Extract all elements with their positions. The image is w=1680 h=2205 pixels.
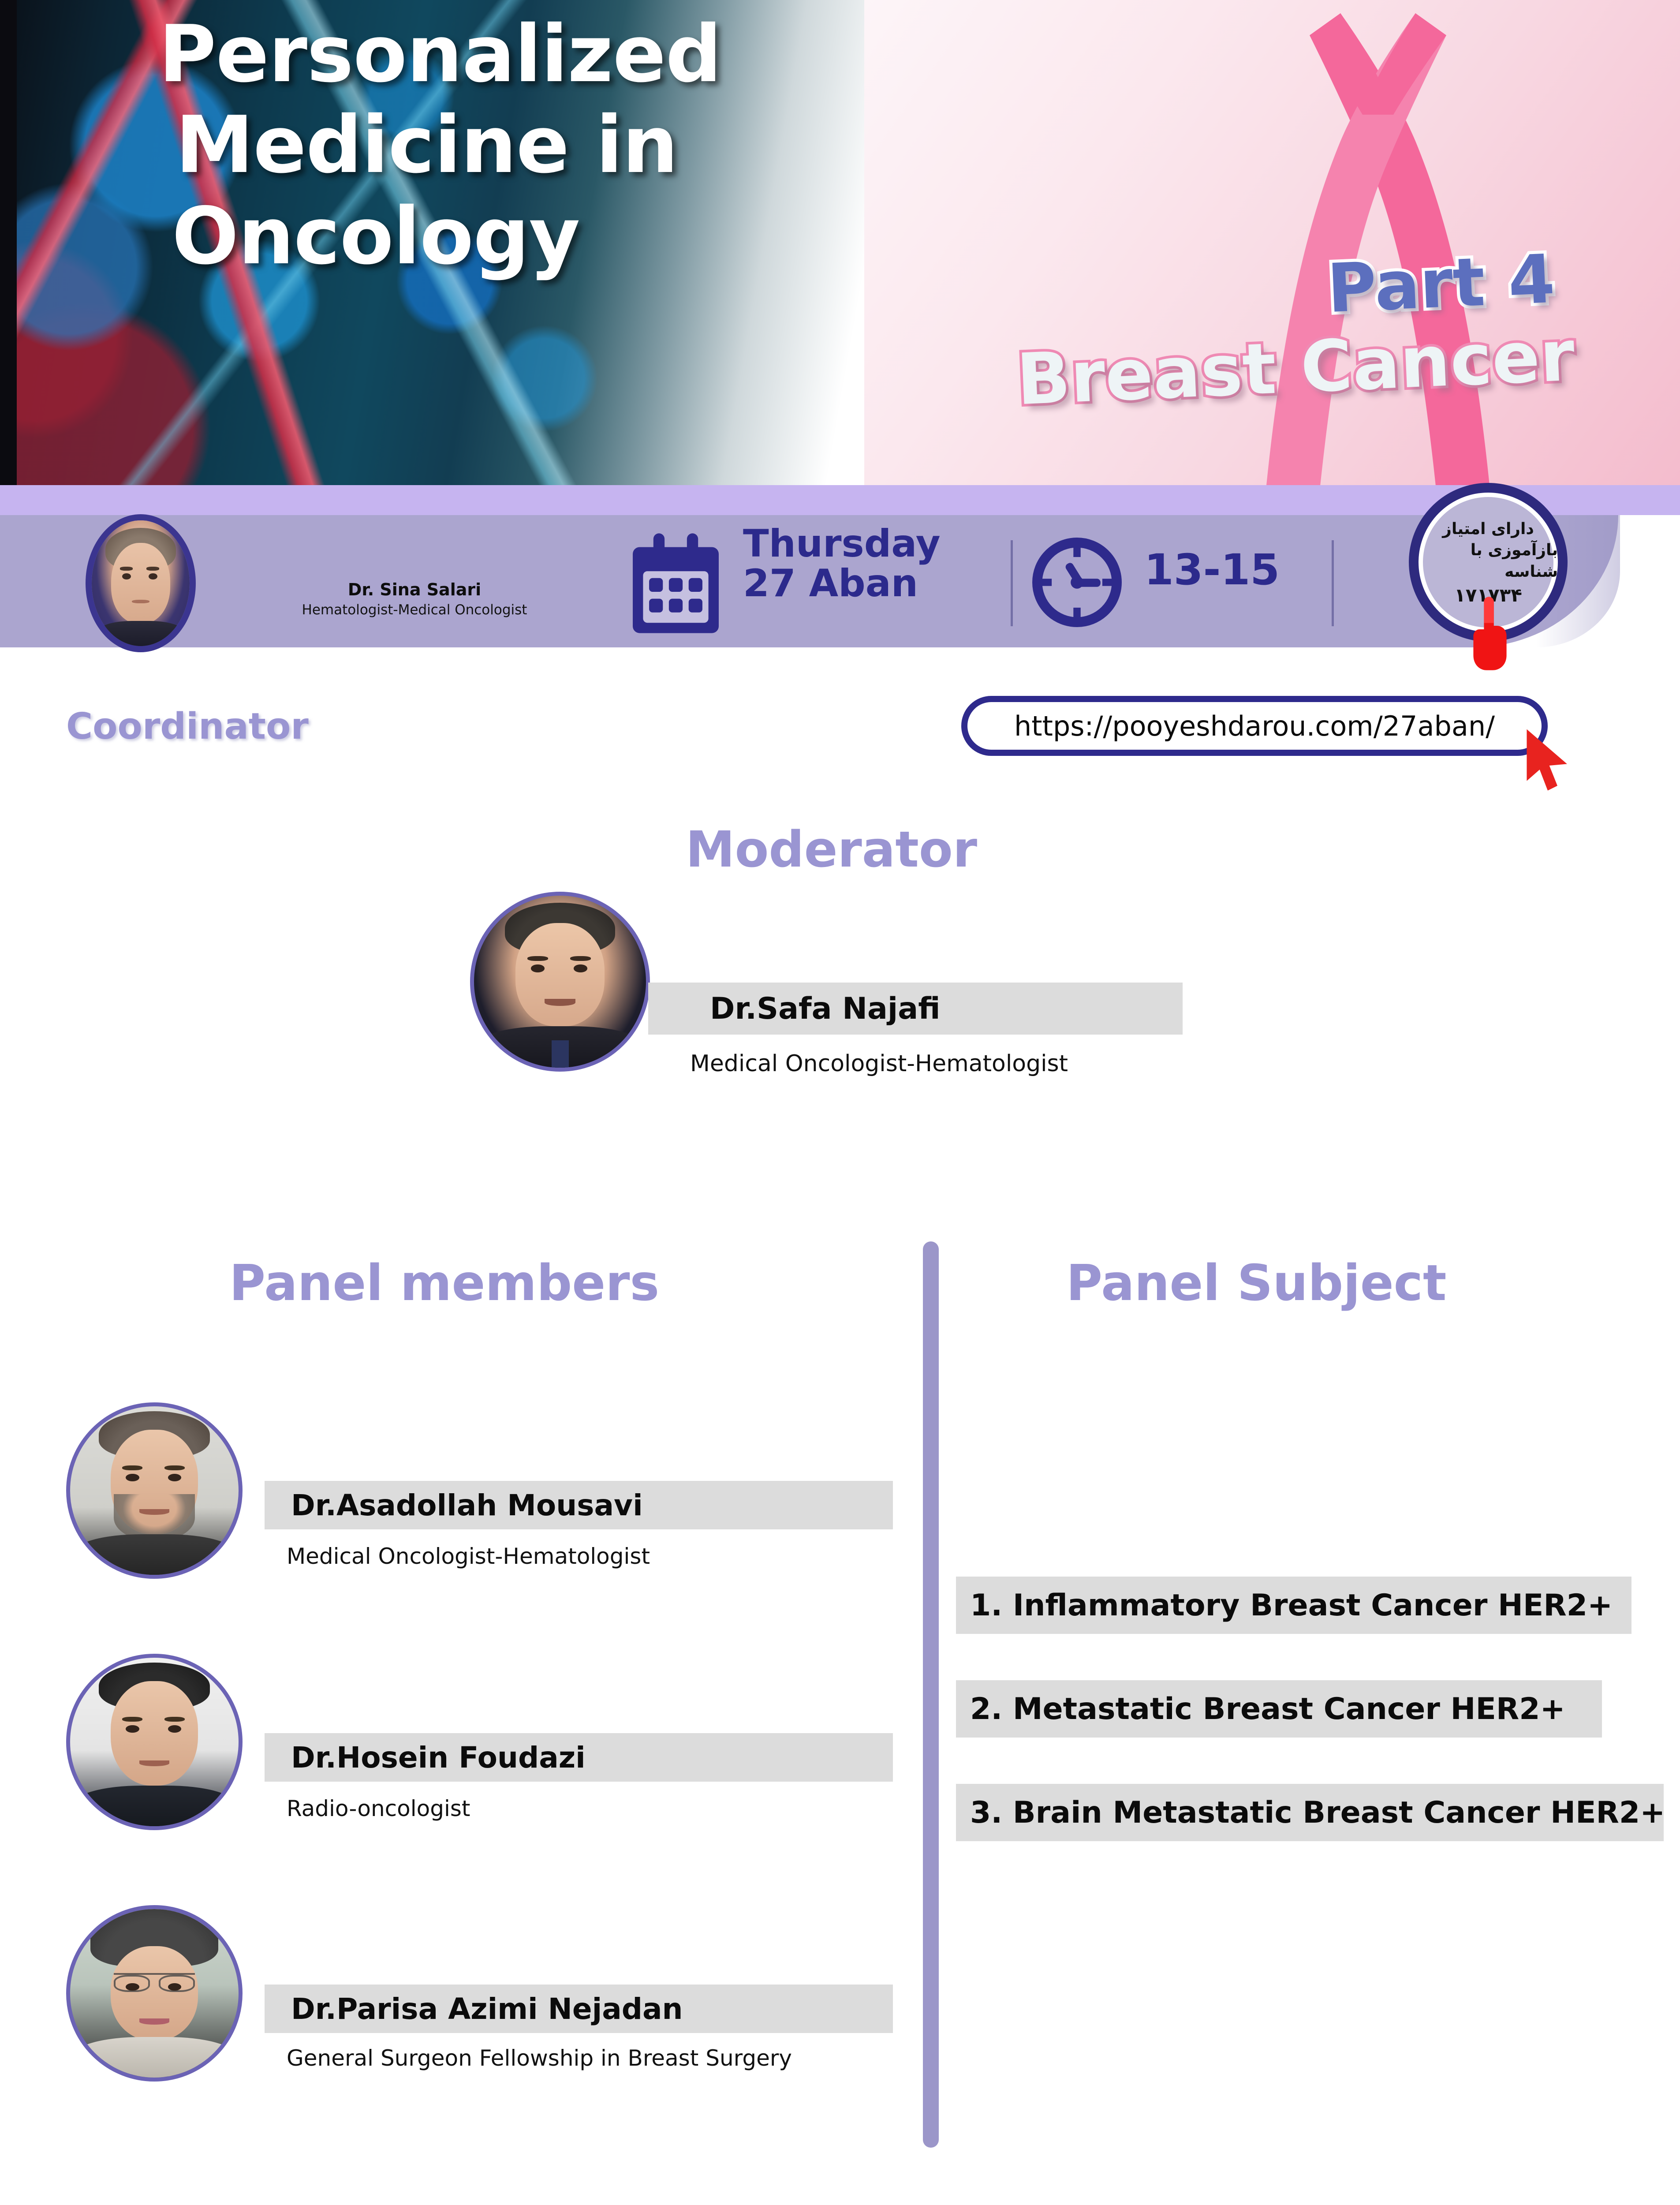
panel-member-name: Dr.Hosein Foudazi <box>291 1741 586 1775</box>
moderator-name: Dr.Safa Najafi <box>710 991 941 1026</box>
event-date: 27 Aban <box>743 564 941 604</box>
moderator-role: Medical Oncologist-Hematologist <box>690 1050 1068 1077</box>
panel-members-heading: Panel members <box>229 1255 659 1312</box>
panel-member-avatar <box>66 1654 243 1830</box>
panel-member-role: Radio-oncologist <box>287 1796 470 1821</box>
panel-member-name-band: Dr.Hosein Foudazi <box>265 1733 893 1782</box>
coordinator-label: Coordinator <box>66 706 309 747</box>
info-bar-divider-right <box>1332 540 1334 626</box>
event-time: 13-15 <box>1144 545 1280 594</box>
info-bar-divider-left <box>1011 540 1013 626</box>
conference-poster: Personalized Medicine in Oncology Part 4… <box>0 0 1680 2205</box>
panel-subject-item: 1. Inflammatory Breast Cancer HER2+ <box>956 1577 1631 1634</box>
moderator-avatar <box>470 892 650 1072</box>
coordinator-avatar <box>92 520 190 646</box>
moderator-heading: Moderator <box>686 821 977 878</box>
clock-icon <box>1032 537 1122 628</box>
panel-member-avatar <box>66 1905 243 2082</box>
coordinator-role: Hematologist-Medical Oncologist <box>265 602 564 618</box>
event-date-block: Thursday 27 Aban <box>743 525 941 604</box>
panel-subject-item: 2. Metastatic Breast Cancer HER2+ <box>956 1680 1602 1738</box>
coordinator-name: Dr. Sina Salari <box>282 580 547 599</box>
registration-url-text: https://pooyeshdarou.com/27aban/ <box>1014 710 1495 742</box>
panel-member-avatar <box>66 1402 243 1579</box>
panel-subject-heading: Panel Subject <box>1066 1255 1447 1312</box>
mouse-cursor-icon <box>1523 728 1572 794</box>
title-line-3: Oncology <box>172 191 829 282</box>
seal-line-1: دارای امتیاز <box>1442 519 1534 540</box>
section-divider <box>923 1241 939 2148</box>
poster-title: Personalized Medicine in Oncology <box>159 9 829 282</box>
panel-member-name: Dr.Parisa Azimi Nejadan <box>291 1992 683 2026</box>
calendar-icon <box>633 531 719 635</box>
part-number-label: Part 4 <box>1325 240 1556 328</box>
event-day: Thursday <box>743 525 941 564</box>
registration-url-button[interactable]: https://pooyeshdarou.com/27aban/ <box>961 696 1548 756</box>
panel-member-name: Dr.Asadollah Mousavi <box>291 1488 643 1522</box>
title-line-2: Medicine in <box>175 100 829 191</box>
panel-member-name-band: Dr.Asadollah Mousavi <box>265 1481 893 1529</box>
poster-header: Personalized Medicine in Oncology Part 4… <box>0 0 1680 485</box>
title-line-1: Personalized <box>159 9 829 100</box>
pointing-hand-icon <box>1471 593 1513 673</box>
panel-subject-item: 3. Brain Metastatic Breast Cancer HER2+ <box>956 1784 1664 1841</box>
panel-member-name-band: Dr.Parisa Azimi Nejadan <box>265 1984 893 2033</box>
moderator-name-band: Dr.Safa Najafi <box>648 983 1183 1035</box>
panel-member-role: General Surgeon Fellowship in Breast Sur… <box>287 2045 792 2071</box>
seal-line-2: بازآموزی با شناسه <box>1419 540 1558 583</box>
header-left-edge <box>0 0 17 485</box>
panel-member-role: Medical Oncologist-Hematologist <box>287 1543 650 1569</box>
